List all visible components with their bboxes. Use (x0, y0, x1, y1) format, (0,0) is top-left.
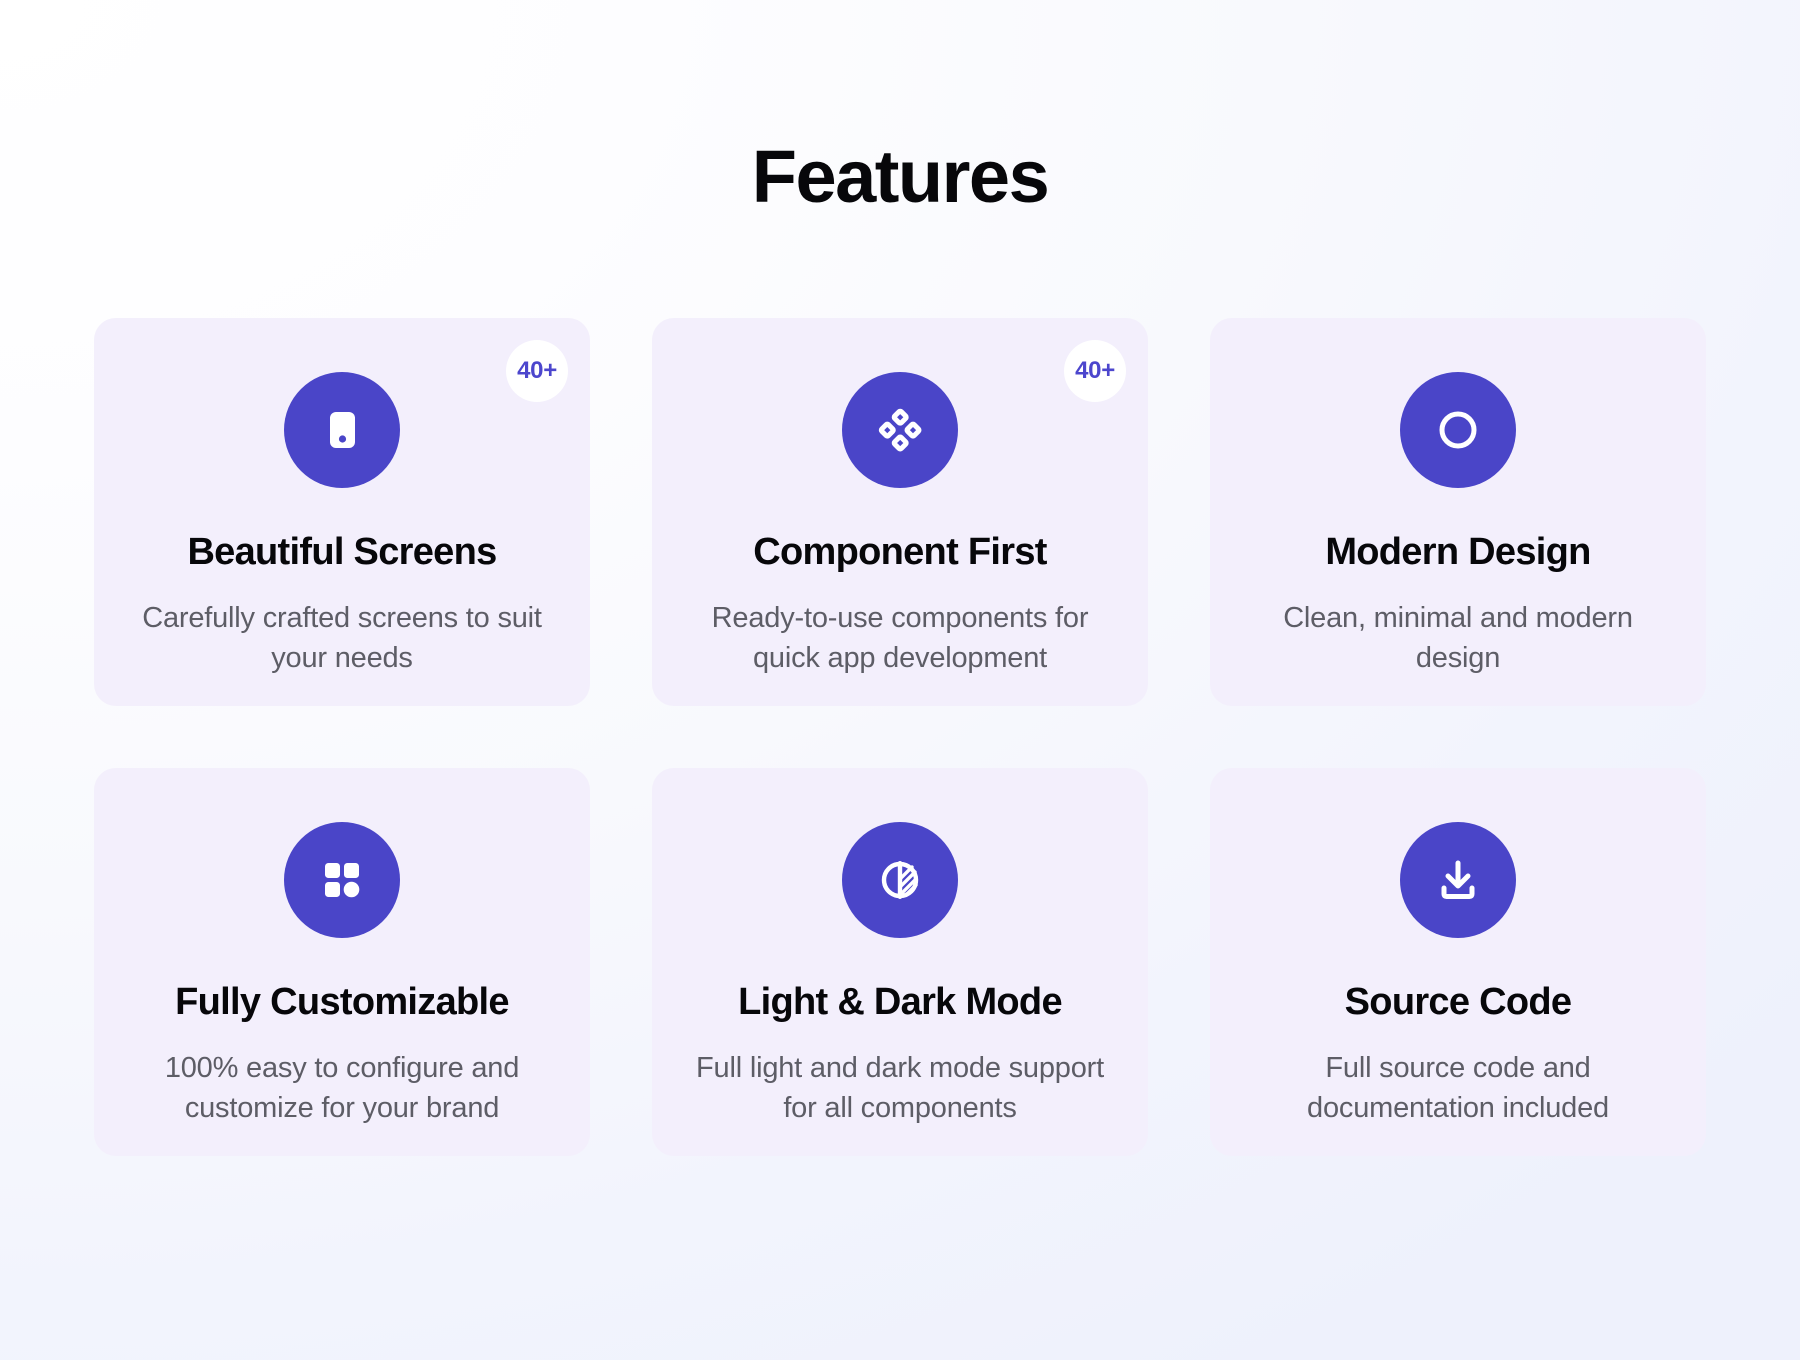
feature-title: Beautiful Screens (187, 532, 496, 574)
contrast-half-icon (842, 822, 958, 938)
feature-card-source-code[interactable]: Source Code Full source code and documen… (1210, 768, 1706, 1156)
feature-description: Clean, minimal and modern design (1248, 598, 1668, 678)
feature-title: Source Code (1345, 982, 1572, 1024)
feature-description: Full light and dark mode support for all… (690, 1048, 1110, 1128)
count-badge: 40+ (1064, 340, 1126, 402)
four-diamonds-icon (842, 372, 958, 488)
features-page: Features 40+ Beautiful Screens Carefully… (0, 0, 1800, 1360)
feature-title: Fully Customizable (175, 982, 509, 1024)
feature-card-light-dark-mode[interactable]: Light & Dark Mode Full light and dark mo… (652, 768, 1148, 1156)
feature-title: Modern Design (1325, 532, 1590, 574)
feature-description: 100% easy to configure and customize for… (132, 1048, 552, 1128)
feature-title: Component First (753, 532, 1046, 574)
page-title: Features (0, 0, 1800, 214)
feature-description: Full source code and documentation inclu… (1248, 1048, 1668, 1128)
circle-outline-icon (1400, 372, 1516, 488)
phone-screen-icon (284, 372, 400, 488)
feature-card-modern-design[interactable]: Modern Design Clean, minimal and modern … (1210, 318, 1706, 706)
grid-squares-circle-icon (284, 822, 400, 938)
feature-title: Light & Dark Mode (738, 982, 1062, 1024)
feature-card-beautiful-screens[interactable]: 40+ Beautiful Screens Carefully crafted … (94, 318, 590, 706)
feature-description: Ready-to-use components for quick app de… (690, 598, 1110, 678)
feature-description: Carefully crafted screens to suit your n… (132, 598, 552, 678)
features-grid: 40+ Beautiful Screens Carefully crafted … (94, 318, 1706, 1156)
feature-card-component-first[interactable]: 40+ Component First Ready-to-use compone… (652, 318, 1148, 706)
count-badge: 40+ (506, 340, 568, 402)
download-icon (1400, 822, 1516, 938)
feature-card-fully-customizable[interactable]: Fully Customizable 100% easy to configur… (94, 768, 590, 1156)
